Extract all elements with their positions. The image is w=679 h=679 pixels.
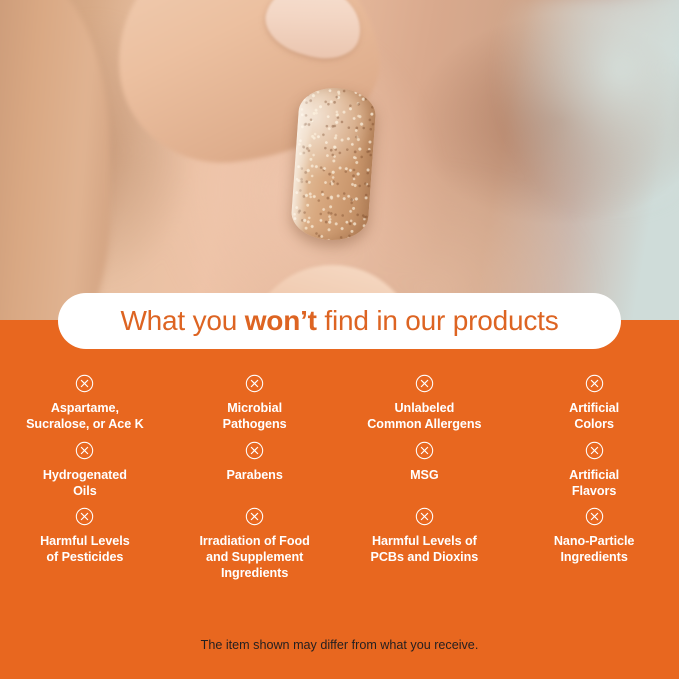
circle-x-icon bbox=[75, 507, 94, 526]
exclusion-item: Nano-Particle Ingredients bbox=[509, 499, 679, 581]
circle-x-icon bbox=[415, 374, 434, 393]
exclusion-label: Artificial Colors bbox=[569, 401, 619, 432]
circle-x-icon bbox=[415, 507, 434, 526]
exclusion-label: MSG bbox=[410, 468, 439, 484]
exclusion-item: Aspartame, Sucralose, or Ace K bbox=[0, 372, 170, 432]
exclusion-item: Parabens bbox=[170, 432, 340, 499]
exclusion-label: Harmful Levels of PCBs and Dioxins bbox=[371, 534, 479, 565]
exclusion-item: Artificial Colors bbox=[509, 372, 679, 432]
circle-x-icon bbox=[245, 441, 264, 460]
product-info-panel: What you won’t find in our products Aspa… bbox=[0, 0, 679, 679]
circle-x-icon bbox=[245, 374, 264, 393]
circle-x-icon bbox=[245, 507, 264, 526]
exclusion-item: Harmful Levels of Pesticides bbox=[0, 499, 170, 581]
exclusion-label: Microbial Pathogens bbox=[223, 401, 287, 432]
circle-x-icon bbox=[585, 374, 604, 393]
title-emphasis: won’t bbox=[245, 305, 317, 336]
title-prefix: What you bbox=[120, 305, 244, 336]
exclusion-label: Hydrogenated Oils bbox=[43, 468, 127, 499]
exclusion-item: Irradiation of Food and Supplement Ingre… bbox=[170, 499, 340, 581]
hand-fingers-icon bbox=[0, 0, 110, 320]
exclusion-label: Nano-Particle Ingredients bbox=[554, 534, 635, 565]
exclusion-label: Aspartame, Sucralose, or Ace K bbox=[26, 401, 144, 432]
exclusion-item: Unlabeled Common Allergens bbox=[340, 372, 510, 432]
grid-row: Aspartame, Sucralose, or Ace K Microbial… bbox=[0, 372, 679, 432]
exclusion-label: Harmful Levels of Pesticides bbox=[40, 534, 130, 565]
exclusion-item: Artificial Flavors bbox=[509, 432, 679, 499]
exclusion-item: Microbial Pathogens bbox=[170, 372, 340, 432]
title-suffix: find in our products bbox=[317, 305, 559, 336]
exclusion-item: Hydrogenated Oils bbox=[0, 432, 170, 499]
exclusion-label: Unlabeled Common Allergens bbox=[367, 401, 481, 432]
circle-x-icon bbox=[75, 374, 94, 393]
exclusion-label: Artificial Flavors bbox=[569, 468, 619, 499]
page-title: What you won’t find in our products bbox=[120, 305, 558, 337]
grid-row: Harmful Levels of Pesticides Irradiation… bbox=[0, 499, 679, 581]
exclusions-grid: Aspartame, Sucralose, or Ace K Microbial… bbox=[0, 372, 679, 581]
exclusion-label: Parabens bbox=[226, 468, 282, 484]
circle-x-icon bbox=[75, 441, 94, 460]
heading-banner: What you won’t find in our products bbox=[58, 293, 621, 349]
exclusion-label: Irradiation of Food and Supplement Ingre… bbox=[199, 534, 309, 581]
circle-x-icon bbox=[585, 441, 604, 460]
circle-x-icon bbox=[415, 441, 434, 460]
exclusion-item: MSG bbox=[340, 432, 510, 499]
exclusion-item: Harmful Levels of PCBs and Dioxins bbox=[340, 499, 510, 581]
grid-row: Hydrogenated Oils Parabens MSG bbox=[0, 432, 679, 499]
product-photo bbox=[0, 0, 679, 320]
disclaimer-footnote: The item shown may differ from what you … bbox=[0, 638, 679, 652]
circle-x-icon bbox=[585, 507, 604, 526]
tablet-pill-icon bbox=[290, 85, 377, 242]
